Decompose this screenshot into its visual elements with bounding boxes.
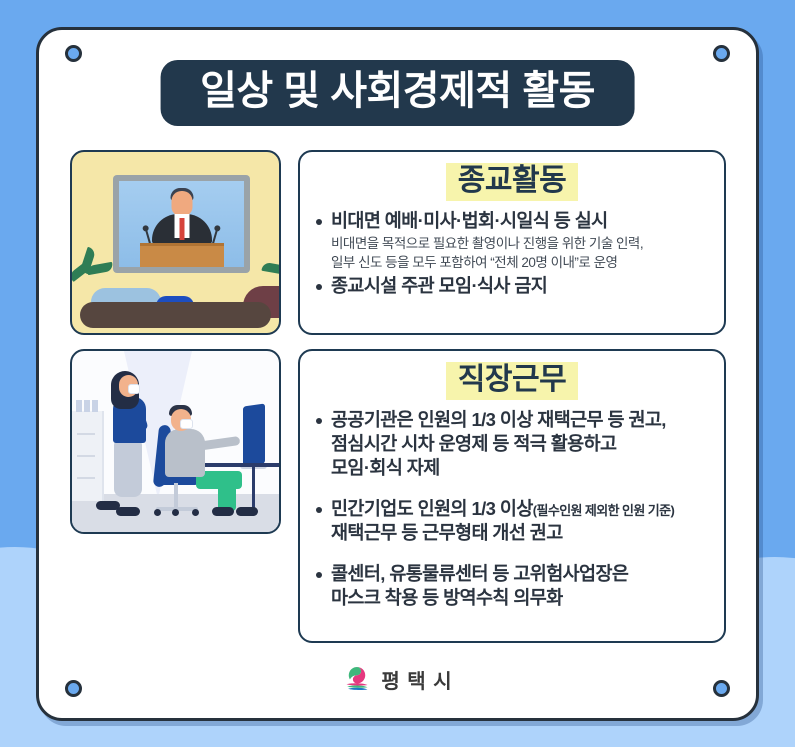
pulpit [140,243,224,267]
list-item: 종교시설 주관 모임·식사 금지 [314,274,710,298]
office-workplace-illustration [70,349,281,534]
list-item: 비대면 예배·미사·법회·시일식 등 실시 비대면을 목적으로 필요한 촬영이나… [314,209,710,272]
chair-wheel [172,509,179,516]
broadcast-video [119,181,244,267]
poster-title-bar: 일상 및 사회경제적 활동 [160,60,635,126]
page-title: 일상 및 사회경제적 활동 [200,69,595,113]
television-screen [113,175,250,273]
list-item: 콜센터, 유통물류센터 등 고위험사업장은 마스크 착용 등 방역수칙 의무화 [314,562,710,610]
chair-wheel [192,509,199,516]
bullet-inline-note: (필수인원 제외한 인원 기준) [533,503,674,518]
screw-hole-top-left [65,45,82,62]
leaf [261,262,281,275]
bullet-line: 공공기관은 인원의 1/3 이상 재택근무 등 권고, [331,408,710,432]
desk-leg [252,467,255,509]
office-chair-post [174,483,178,509]
religion-heading: 종교활동 [314,163,710,201]
desk-cups [76,399,100,417]
seated-worker-body [165,429,205,477]
footer: 평 택 시 [39,664,756,694]
preacher-tie [179,218,184,240]
workplace-heading: 직장근무 [314,362,710,400]
chair-wheel [154,509,161,516]
shoe [212,507,234,516]
bullet-line-text: 민간기업도 인원의 1/3 이상 [331,498,533,519]
religion-bullet-list: 비대면 예배·미사·법회·시일식 등 실시 비대면을 목적으로 필요한 촬영이나… [314,209,710,298]
workplace-heading-text: 직장근무 [446,362,578,400]
bullet-line: 민간기업도 인원의 1/3 이상(필수인원 제외한 인원 기준) [331,497,710,521]
section-religion: 종교활동 비대면 예배·미사·법회·시일식 등 실시 비대면을 목적으로 필요한… [39,150,756,335]
religion-text-card: 종교활동 비대면 예배·미사·법회·시일식 등 실시 비대면을 목적으로 필요한… [298,150,726,335]
bullet-line: 재택근무 등 근무형태 개선 권고 [331,521,710,545]
list-item: 민간기업도 인원의 1/3 이상(필수인원 제외한 인원 기준) 재택근무 등 … [314,497,710,545]
preacher-head [171,191,192,216]
face-mask-icon [128,384,140,394]
bullet-line: 모임·회식 자제 [331,456,710,480]
online-worship-illustration [70,150,281,335]
face-mask-icon [180,419,193,429]
sofa [80,302,271,328]
workplace-bullet-list: 공공기관은 인원의 1/3 이상 재택근무 등 권고, 점심시간 시차 운영제 … [314,408,710,610]
bullet-sub-line: 비대면을 목적으로 필요한 촬영이나 진행을 위한 기술 인력, [331,234,710,253]
bullet-main-text: 비대면 예배·미사·법회·시일식 등 실시 [331,210,608,231]
list-item: 공공기관은 인원의 1/3 이상 재택근무 등 권고, 점심시간 시차 운영제 … [314,408,710,480]
shoe [236,507,258,516]
computer-monitor [243,403,265,466]
bullet-line: 점심시간 시차 운영제 등 적극 활용하고 [331,432,710,456]
leaf [279,246,281,274]
bullet-sub-text: 비대면을 목적으로 필요한 촬영이나 진행을 위한 기술 인력, 일부 신도 등… [331,234,710,272]
section-workplace: 직장근무 공공기관은 인원의 1/3 이상 재택근무 등 권고, 점심시간 시차… [39,335,756,643]
bullet-sub-line: 일부 신도 등을 모두 포함하여 “전체 20명 이내”로 운영 [331,253,710,272]
pyeongtaek-city-logo-icon [342,664,372,694]
poster-root: 일상 및 사회경제적 활동 [0,0,795,747]
poster-board: 일상 및 사회경제적 활동 [36,27,759,721]
content-rows: 종교활동 비대면 예배·미사·법회·시일식 등 실시 비대면을 목적으로 필요한… [39,150,756,643]
office-cabinet [72,411,104,501]
workplace-text-card: 직장근무 공공기관은 인원의 1/3 이상 재택근무 등 권고, 점심시간 시차… [298,349,726,643]
religion-heading-text: 종교활동 [446,163,578,201]
bullet-main-text: 종교시설 주관 모임·식사 금지 [331,275,547,296]
screw-hole-top-right [713,45,730,62]
standing-worker-legs [114,441,142,497]
shoe [116,507,140,516]
seated-worker-leg [218,477,236,511]
bullet-line: 콜센터, 유통물류센터 등 고위험사업장은 [331,562,710,586]
city-name-label: 평 택 시 [381,665,452,694]
bullet-line: 마스크 착용 등 방역수칙 의무화 [331,586,710,610]
